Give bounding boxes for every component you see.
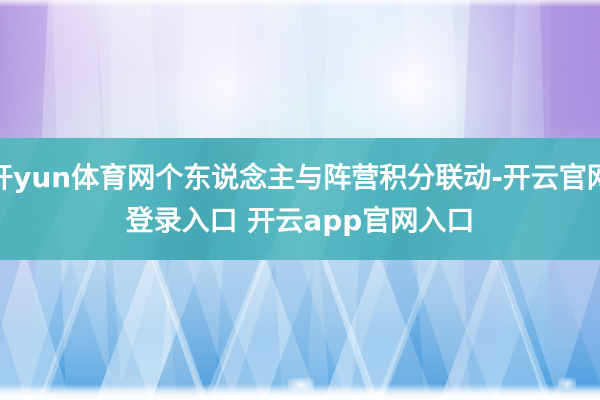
headline-band: 开yun体育网个东说念主与阵营积分联动-开云官网 登录入口 开云app官网入口: [0, 138, 600, 260]
page-title: 开yun体育网个东说念主与阵营积分联动-开云官网 登录入口 开云app官网入口: [0, 156, 600, 242]
headline-line-1: 开yun体育网个东说念主与阵营积分联动-开云官网: [0, 156, 600, 199]
top-highlight-edge: [0, 0, 600, 7]
bottom-glow-strip: [0, 384, 600, 400]
banner-image: 开yun体育网个东说念主与阵营积分联动-开云官网 登录入口 开云app官网入口: [0, 0, 600, 400]
headline-line-2: 登录入口 开云app官网入口: [0, 199, 600, 242]
